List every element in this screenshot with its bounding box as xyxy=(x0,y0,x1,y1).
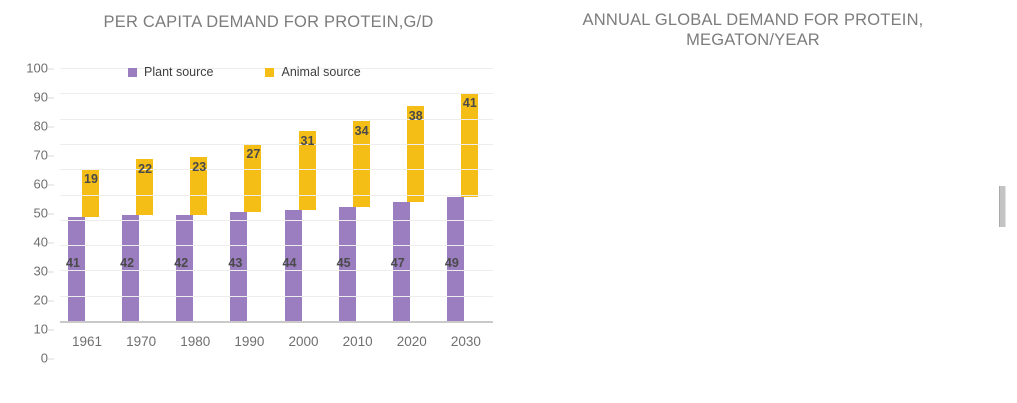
y-axis-tick-label: 90 xyxy=(34,90,48,105)
y-axis-tick-mark xyxy=(48,358,54,359)
bar-value-label-animal: 34 xyxy=(355,124,369,138)
bar-value-label-animal: 27 xyxy=(246,147,260,161)
bar-value-label-plant: 49 xyxy=(445,256,459,270)
x-axis-tick-label: 1980 xyxy=(168,321,222,358)
y-axis-tick-label: 100 xyxy=(26,61,48,76)
legend-item-plant-source[interactable]: Plant source xyxy=(128,65,213,79)
y-axis-tick-mark xyxy=(48,329,54,330)
bar-value-label-animal: 41 xyxy=(463,96,477,110)
x-axis-left: 19611970198019902000201020202030 xyxy=(60,321,493,358)
bar-value-label-animal: 19 xyxy=(84,172,98,186)
legend-swatch-plant-icon xyxy=(128,68,137,77)
bar-value-label-animal: 23 xyxy=(192,160,206,174)
bar-value-label-animal: 38 xyxy=(409,109,423,123)
y-axis-tick-label: 40 xyxy=(34,235,48,250)
x-axis-tick-label: 2010 xyxy=(331,321,385,358)
scrollbar-thumb[interactable] xyxy=(999,186,1006,227)
x-axis-tick-label: 1961 xyxy=(60,321,114,358)
bar-value-label-plant: 43 xyxy=(228,256,242,270)
y-axis-tick-mark xyxy=(48,300,54,301)
x-axis-tick-label: 2000 xyxy=(277,321,331,358)
legend-swatch-animal-icon xyxy=(265,68,274,77)
y-axis-tick-mark xyxy=(48,155,54,156)
bar-value-label-plant: 47 xyxy=(391,256,405,270)
bar-value-label-plant: 41 xyxy=(66,256,80,270)
bar-value-label-plant: 44 xyxy=(283,256,297,270)
y-axis-tick-label: 10 xyxy=(34,322,48,337)
gridline xyxy=(60,169,493,170)
gridline xyxy=(60,144,493,145)
bar-value-label-animal: 22 xyxy=(138,162,152,176)
y-axis-tick-label: 0 xyxy=(41,351,48,366)
gridline xyxy=(60,270,493,271)
gridline xyxy=(60,296,493,297)
y-axis-tick-label: 70 xyxy=(34,148,48,163)
x-axis-tick-label: 2030 xyxy=(439,321,493,358)
charts-page: PER CAPITA DEMAND FOR PROTEIN,G/D Plant … xyxy=(0,0,1017,403)
x-axis-tick-label: 2020 xyxy=(385,321,439,358)
y-axis-tick-label: 60 xyxy=(34,177,48,192)
gridline xyxy=(60,93,493,94)
y-axis-tick-mark xyxy=(48,271,54,272)
y-axis-tick-label: 50 xyxy=(34,206,48,221)
bar-value-label-animal: 31 xyxy=(301,134,315,148)
y-axis-tick-label: 30 xyxy=(34,264,48,279)
legend-label-animal: Animal source xyxy=(281,65,360,79)
y-axis-tick-mark xyxy=(48,242,54,243)
y-axis-tick-mark xyxy=(48,213,54,214)
x-axis-tick-label: 1970 xyxy=(114,321,168,358)
page-title: PER CAPITA DEMAND FOR PROTEIN,G/D xyxy=(0,12,509,32)
bar-value-label-plant: 42 xyxy=(174,256,188,270)
bars-region-left: 41194222422343274431453447384941 xyxy=(60,68,493,321)
plot-area-left: 0102030405060708090100 41194222422343274… xyxy=(18,68,493,358)
x-axis-tick-label: 1990 xyxy=(222,321,276,358)
page-title-secondary: ANNUAL GLOBAL DEMAND FOR PROTEIN, MEGATO… xyxy=(509,10,1017,50)
gridline xyxy=(60,245,493,246)
bar-value-label-plant: 42 xyxy=(120,256,134,270)
y-axis-tick-mark xyxy=(48,126,54,127)
chart-annual-global-demand: ANNUAL GLOBAL DEMAND FOR PROTEIN, MEGATO… xyxy=(509,0,1017,403)
legend-label-plant: Plant source xyxy=(144,65,213,79)
gridline xyxy=(60,195,493,196)
y-axis-left: 0102030405060708090100 xyxy=(18,68,54,358)
gridline xyxy=(60,119,493,120)
y-axis-tick-label: 20 xyxy=(34,293,48,308)
y-axis-tick-mark xyxy=(48,97,54,98)
chart-legend: Plant source Animal source xyxy=(128,65,361,79)
legend-item-animal-source[interactable]: Animal source xyxy=(265,65,360,79)
chart-per-capita-demand: PER CAPITA DEMAND FOR PROTEIN,G/D Plant … xyxy=(0,0,509,403)
bar-value-label-plant: 45 xyxy=(337,256,351,270)
y-axis-tick-mark xyxy=(48,68,54,69)
y-axis-tick-mark xyxy=(48,184,54,185)
y-axis-tick-label: 80 xyxy=(34,119,48,134)
gridline xyxy=(60,220,493,221)
